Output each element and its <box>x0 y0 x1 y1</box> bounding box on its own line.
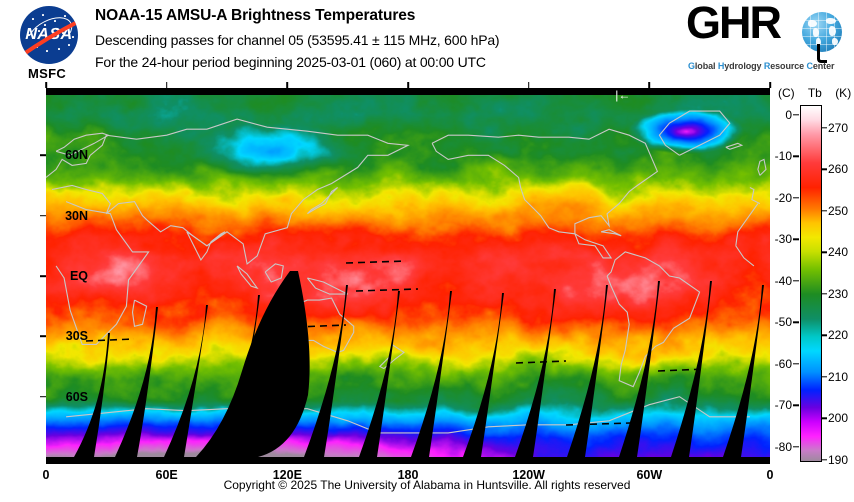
colorbar-label-celsius-8: -80 <box>775 440 792 454</box>
colorbar-variable-label: Tb <box>808 86 822 100</box>
globe-meridian <box>810 12 811 52</box>
colorbar-tick-celsius <box>793 239 799 240</box>
globe-landmass <box>826 18 836 24</box>
lon-label-2: 120E <box>273 468 302 482</box>
orbital-gap-wedge <box>619 281 660 457</box>
brightness-temperature-map[interactable] <box>46 95 770 457</box>
colorbar-tick-kelvin <box>821 169 827 170</box>
globe-landmass <box>832 38 838 45</box>
globe-landmass <box>829 26 836 36</box>
colorbar-tick-kelvin <box>821 210 827 211</box>
ghrc-logo: GHR Global Hydrology Resource Center <box>686 4 848 78</box>
lat-tick <box>40 275 46 277</box>
lon-tick <box>166 82 168 88</box>
nasa-center-label: MSFC <box>6 66 88 81</box>
colorbar-label-kelvin-8: 190 <box>828 453 848 467</box>
colorbar-tick-celsius <box>793 114 799 115</box>
colorbar-label-kelvin-5: 220 <box>828 328 848 342</box>
orbital-gap-wedge <box>304 285 348 457</box>
lat-tick <box>40 215 46 217</box>
colorbar-label-celsius-6: -60 <box>775 357 792 371</box>
orbit-trace-dash <box>516 361 566 363</box>
colorbar-label-kelvin-3: 240 <box>828 245 848 259</box>
colorbar-tick-kelvin <box>821 252 827 253</box>
lat-tick <box>40 155 46 157</box>
colorbar-tick-celsius <box>793 322 799 323</box>
lon-label-5: 60W <box>636 468 662 482</box>
lat-label-30s: 30S <box>66 329 88 343</box>
colorbar-tick-kelvin <box>821 127 827 128</box>
lon-label-1: 60E <box>156 468 178 482</box>
colorbar-label-celsius-1: -10 <box>775 149 792 163</box>
orbital-gap-wedge <box>164 305 208 457</box>
colorbar-tick-celsius <box>793 446 799 447</box>
colorbar-label-kelvin-0: 270 <box>828 121 848 135</box>
ghrc-tagline: Global Hydrology Resource Center <box>688 61 834 71</box>
globe-parallel <box>802 36 842 37</box>
orbital-gap-wedge <box>515 289 556 457</box>
colorbar-label-celsius-4: -40 <box>775 274 792 288</box>
colorbar-tick-celsius <box>793 405 799 406</box>
colorbar-tick-celsius <box>793 156 799 157</box>
lat-label-30n: 30N <box>65 209 88 223</box>
colorbar-unit-celsius: (C) <box>778 86 795 100</box>
colorbar-label-kelvin-6: 210 <box>828 370 848 384</box>
orbit-trace-dash <box>86 339 134 341</box>
orbital-gap-large <box>196 271 310 457</box>
globe-landmass <box>813 28 819 37</box>
nasa-swoosh-icon <box>20 10 78 64</box>
colorbar-tick-celsius <box>793 280 799 281</box>
lon-tick <box>649 82 651 88</box>
lat-tick <box>40 396 46 398</box>
orbital-gap-wedge <box>359 291 400 457</box>
globe-landmass <box>808 20 817 27</box>
page-subtitle-period: For the 24-hour period beginning 2025-03… <box>95 55 655 69</box>
copyright-notice: Copyright © 2025 The University of Alaba… <box>0 478 854 492</box>
colorbar-label-kelvin-7: 200 <box>828 411 848 425</box>
page-subtitle-channel: Descending passes for channel 05 (53595.… <box>95 33 655 47</box>
orbit-trace-dash <box>346 261 406 263</box>
orbit-start-marker: |← <box>615 88 630 102</box>
lon-tick <box>287 82 289 88</box>
orbit-trace-dash <box>356 289 418 291</box>
ghrc-wordmark: GHR <box>686 0 780 45</box>
colorbar-tick-kelvin <box>821 459 827 460</box>
lon-tick <box>45 82 47 88</box>
orbital-gap-wedge <box>463 293 504 457</box>
colorbar-header: (C) Tb (K) <box>778 86 851 100</box>
colorbar-unit-kelvin: (K) <box>835 86 851 100</box>
orbital-gap-wedge <box>723 285 764 457</box>
lat-label-60s: 60S <box>66 390 88 404</box>
page-title: NOAA-15 AMSU-A Brightness Temperatures <box>95 8 655 24</box>
nasa-logo: NASA MSFC <box>6 4 88 86</box>
lon-label-3: 180 <box>398 468 419 482</box>
lon-label-6: 0 <box>767 468 774 482</box>
orbital-gap-wedge <box>671 281 712 457</box>
colorbar-label-celsius-3: -30 <box>775 232 792 246</box>
lon-tick <box>528 82 530 88</box>
colorbar-label-celsius-5: -50 <box>775 315 792 329</box>
colorbar-tick-kelvin <box>821 418 827 419</box>
lon-label-4: 120W <box>512 468 545 482</box>
colorbar-tick-kelvin <box>821 376 827 377</box>
colorbar-label-kelvin-1: 260 <box>828 162 848 176</box>
colorbar-tick-kelvin <box>821 335 827 336</box>
lat-tick <box>40 336 46 338</box>
lon-label-0: 0 <box>43 468 50 482</box>
colorbar-label-celsius-2: -20 <box>775 191 792 205</box>
colorbar-gradient <box>800 105 822 462</box>
lon-tick <box>769 82 771 88</box>
orbital-gap-wedge <box>567 285 608 457</box>
globe-parallel <box>802 28 842 29</box>
colorbar-tick-kelvin <box>821 293 827 294</box>
colorbar-label-kelvin-4: 230 <box>828 287 848 301</box>
map-frame <box>46 88 770 464</box>
orbital-gap-wedge <box>411 291 452 457</box>
orbit-trace-dash <box>566 423 630 425</box>
nasa-meatball-icon: NASA <box>20 6 78 64</box>
colorbar-label-kelvin-2: 250 <box>828 204 848 218</box>
lat-label-60n: 60N <box>65 148 88 162</box>
title-block: NOAA-15 AMSU-A Brightness Temperatures D… <box>95 8 655 77</box>
orbital-gap-overlay <box>46 95 770 457</box>
orbital-gap-wedge <box>115 307 158 457</box>
colorbar-label-celsius-0: 0 <box>785 108 792 122</box>
colorbar-label-celsius-7: -70 <box>775 398 792 412</box>
lat-label-eq: EQ <box>70 269 88 283</box>
colorbar-tick-celsius <box>793 197 799 198</box>
lon-tick <box>407 82 409 88</box>
colorbar-tick-celsius <box>793 363 799 364</box>
